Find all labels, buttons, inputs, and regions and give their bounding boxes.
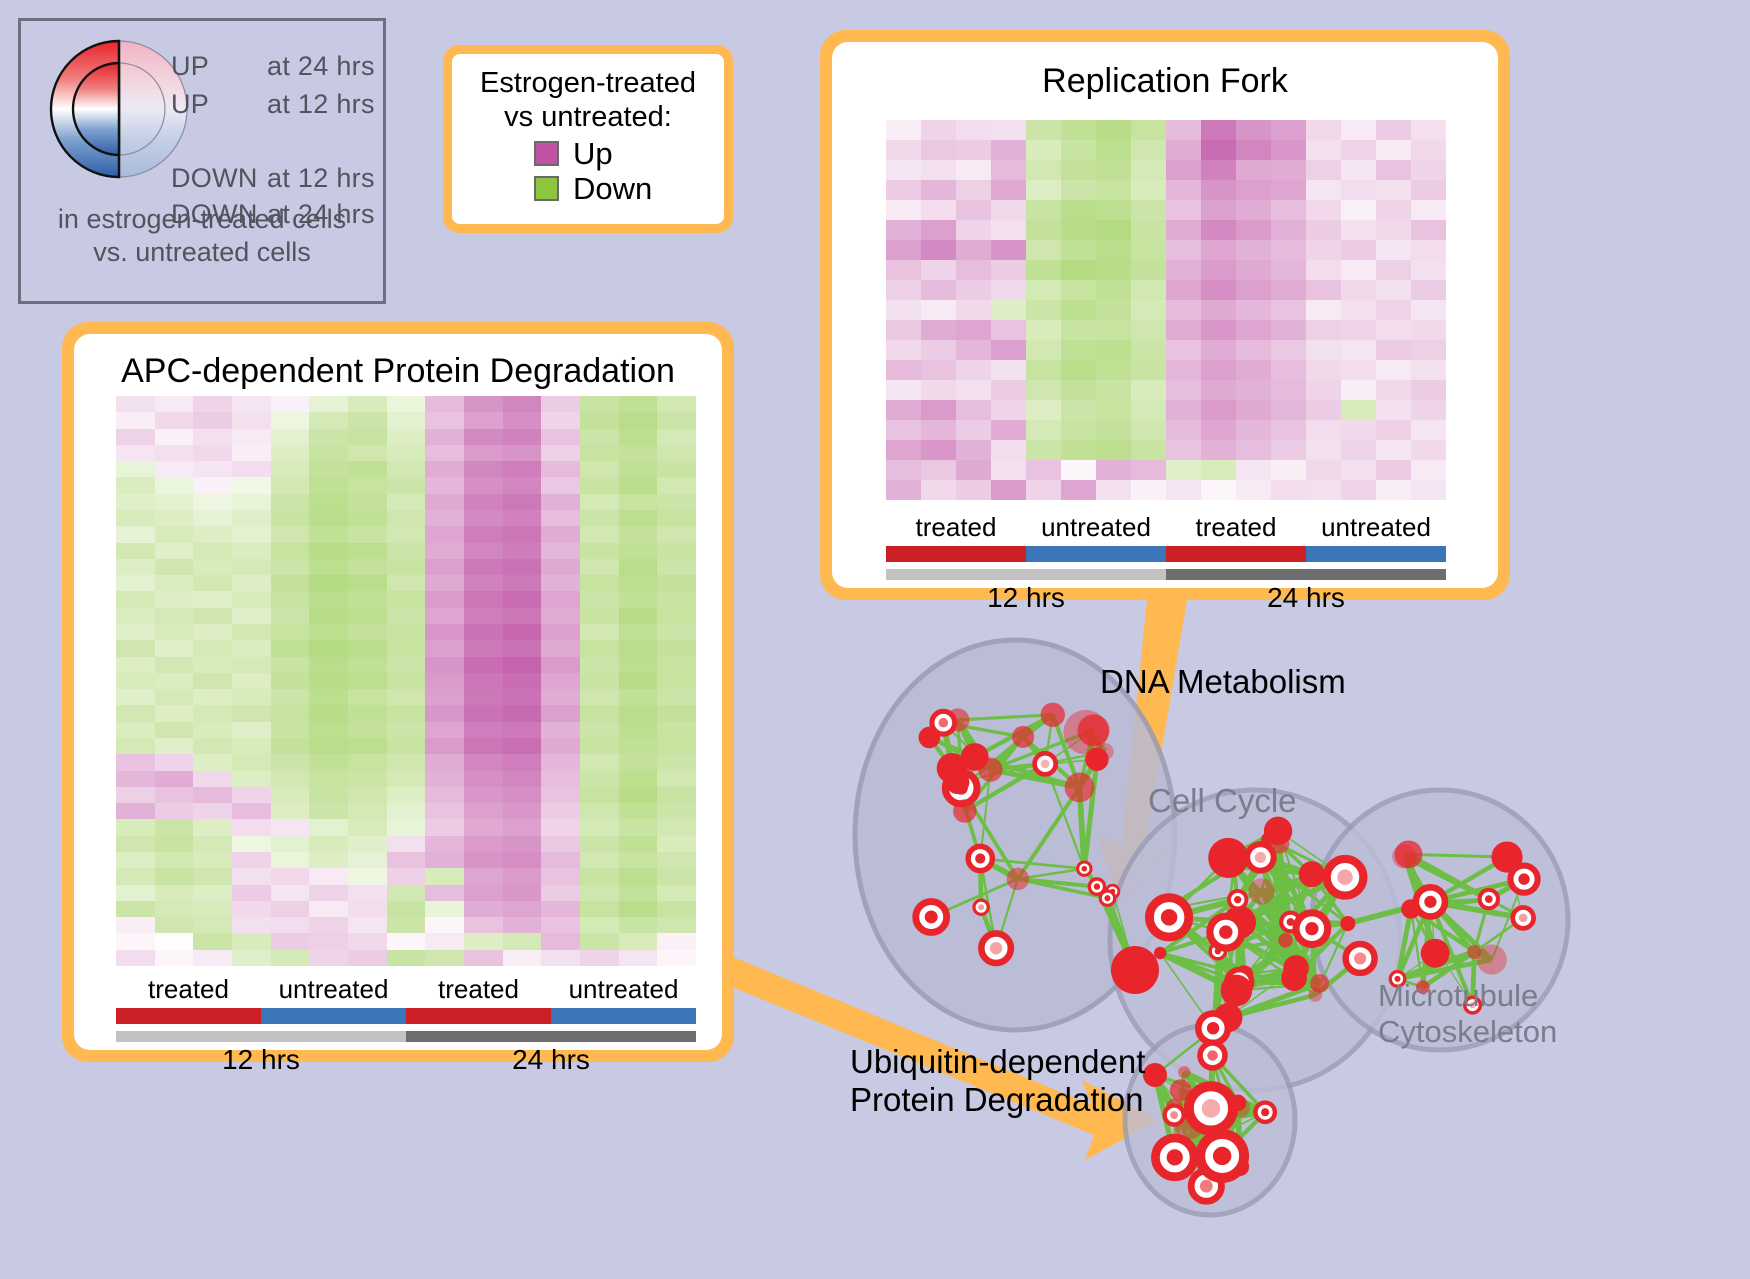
heatmap-cell bbox=[541, 640, 580, 656]
heatmap-cell bbox=[348, 771, 387, 787]
network-node[interactable] bbox=[1269, 833, 1289, 853]
group-labels: treated untreated treated untreated bbox=[886, 512, 1446, 543]
heatmap-cell bbox=[1271, 220, 1306, 240]
heatmap-cell bbox=[193, 868, 232, 884]
heatmap-cell bbox=[886, 180, 921, 200]
heatmap-cell bbox=[619, 754, 658, 770]
network-node-core bbox=[925, 910, 938, 923]
heatmap-cell bbox=[1341, 140, 1376, 160]
heatmap-cell bbox=[1166, 480, 1201, 500]
heatmap-cell bbox=[1096, 240, 1131, 260]
heatmap-cell bbox=[464, 396, 503, 412]
heatmap-cell bbox=[1376, 280, 1411, 300]
heatmap-cell bbox=[619, 722, 658, 738]
network-node[interactable] bbox=[1340, 916, 1355, 931]
heatmap-cell bbox=[387, 852, 426, 868]
heatmap-cell bbox=[387, 608, 426, 624]
network-node[interactable] bbox=[1154, 947, 1166, 959]
heatmap-cell bbox=[886, 300, 921, 320]
heatmap-cell bbox=[991, 160, 1026, 180]
network-node[interactable] bbox=[1041, 703, 1065, 727]
heatmap-cell bbox=[1306, 220, 1341, 240]
heatmap-cell bbox=[886, 340, 921, 360]
heatmap-cell bbox=[956, 420, 991, 440]
heatmap-cell bbox=[541, 901, 580, 917]
heatmap-cell bbox=[921, 320, 956, 340]
heatmap-cell bbox=[348, 494, 387, 510]
heatmap-cell bbox=[1201, 260, 1236, 280]
heatmap-cell bbox=[1411, 160, 1446, 180]
heatmap-cell bbox=[387, 575, 426, 591]
network-node[interactable] bbox=[953, 799, 976, 822]
heatmap-cell bbox=[580, 396, 619, 412]
network-node[interactable] bbox=[1170, 1079, 1192, 1101]
heatmap-cell bbox=[348, 819, 387, 835]
heatmap-cell bbox=[657, 510, 696, 526]
heatmap-cell bbox=[232, 950, 271, 966]
heatmap-cell bbox=[580, 819, 619, 835]
heatmap-cell bbox=[503, 657, 542, 673]
heatmap-cell bbox=[193, 543, 232, 559]
heatmap-cell bbox=[193, 396, 232, 412]
heatmap-cell bbox=[464, 543, 503, 559]
group-label: treated bbox=[1166, 512, 1306, 543]
heatmap-cell bbox=[155, 852, 194, 868]
panel-replication-fork: Replication Fork treated untreated treat… bbox=[820, 30, 1510, 600]
heatmap-cell bbox=[232, 738, 271, 754]
heatmap-cell bbox=[193, 836, 232, 852]
heatmap-cell bbox=[1061, 220, 1096, 240]
heatmap-cell bbox=[348, 673, 387, 689]
network-node[interactable] bbox=[1283, 955, 1309, 981]
heatmap-cell bbox=[886, 240, 921, 260]
heatmap-cell bbox=[541, 494, 580, 510]
heatmap-cell bbox=[309, 868, 348, 884]
heatmap-cell bbox=[1271, 260, 1306, 280]
heatmap-cell bbox=[541, 608, 580, 624]
heatmap-cell bbox=[580, 738, 619, 754]
heatmap-cell bbox=[387, 722, 426, 738]
heatmap-cell bbox=[193, 640, 232, 656]
heatmap-cell bbox=[387, 477, 426, 493]
heatmap-cell bbox=[1096, 360, 1131, 380]
heatmap-cell bbox=[232, 868, 271, 884]
heatmap-cell bbox=[541, 738, 580, 754]
heatmap-cell bbox=[155, 526, 194, 542]
heatmap-cell bbox=[503, 705, 542, 721]
heatmap-cell bbox=[116, 673, 155, 689]
network-node[interactable] bbox=[1221, 975, 1253, 1007]
heatmap-cell bbox=[580, 640, 619, 656]
group-label: untreated bbox=[261, 974, 406, 1005]
heatmap-cell bbox=[271, 754, 310, 770]
heatmap-cell bbox=[991, 120, 1026, 140]
heatmap-cell bbox=[1236, 360, 1271, 380]
heatmap-cell bbox=[309, 901, 348, 917]
heatmap-cell bbox=[1061, 340, 1096, 360]
heatmap-cell bbox=[541, 445, 580, 461]
heatmap-cell bbox=[580, 917, 619, 933]
heatmap-cell bbox=[155, 771, 194, 787]
heatmap-cell bbox=[657, 640, 696, 656]
network-node[interactable] bbox=[1299, 861, 1325, 887]
heatmap-cell bbox=[1411, 120, 1446, 140]
heatmap-cell bbox=[580, 885, 619, 901]
heatmap-cell bbox=[232, 787, 271, 803]
heatmap-cell bbox=[619, 689, 658, 705]
heatmap-cell bbox=[541, 705, 580, 721]
heatmap-cell bbox=[116, 819, 155, 835]
heatmap-cell bbox=[1376, 220, 1411, 240]
treatment-segment bbox=[551, 1008, 696, 1024]
heatmap-cell bbox=[956, 320, 991, 340]
heatmap-cell bbox=[1061, 440, 1096, 460]
heatmap-cell bbox=[1061, 360, 1096, 380]
heatmap-cell bbox=[921, 340, 956, 360]
heatmap-cell bbox=[580, 673, 619, 689]
heatmap-cell bbox=[1096, 460, 1131, 480]
heatmap-cell bbox=[348, 461, 387, 477]
network-node-core bbox=[939, 718, 949, 728]
heatmap-cell bbox=[1096, 300, 1131, 320]
panel-title-replication-fork: Replication Fork bbox=[832, 62, 1498, 101]
network-node[interactable] bbox=[1178, 1066, 1191, 1079]
network-node-core bbox=[1167, 1149, 1183, 1165]
heatmap-cell bbox=[348, 477, 387, 493]
heatmap-cell bbox=[1166, 440, 1201, 460]
heatmap-cell bbox=[541, 754, 580, 770]
heatmap-cell bbox=[503, 543, 542, 559]
group-labels: treated untreated treated untreated bbox=[116, 974, 696, 1005]
heatmap-cell bbox=[1306, 260, 1341, 280]
heatmap-cell bbox=[657, 689, 696, 705]
treatment-segment bbox=[886, 546, 1026, 562]
cluster-label-ubiquitin: Ubiquitin-dependent Protein Degradation bbox=[850, 1043, 1145, 1119]
heatmap-cell bbox=[1201, 440, 1236, 460]
network-node[interactable] bbox=[1208, 838, 1248, 878]
heatmap-cell bbox=[619, 917, 658, 933]
network-node-core bbox=[990, 942, 1002, 954]
heatmap-cell bbox=[464, 477, 503, 493]
heatmap-replication-fork bbox=[886, 120, 1446, 500]
heatmap-cell bbox=[348, 901, 387, 917]
heatmap-cell bbox=[1376, 180, 1411, 200]
heatmap-cell bbox=[155, 591, 194, 607]
heatmap-cell bbox=[309, 673, 348, 689]
heatmap-cell bbox=[116, 754, 155, 770]
heatmap-cell bbox=[991, 420, 1026, 440]
heatmap-cell bbox=[271, 803, 310, 819]
heatmap-cell bbox=[1166, 220, 1201, 240]
heatmap-annotation-apc: treated untreated treated untreated 12 h bbox=[116, 974, 696, 1076]
network-node[interactable] bbox=[1421, 939, 1450, 968]
heatmap-cell bbox=[1131, 140, 1166, 160]
heatmap-cell bbox=[1306, 160, 1341, 180]
treatment-segment bbox=[406, 1008, 551, 1024]
heatmap-cell bbox=[387, 591, 426, 607]
panel-inner: Replication Fork treated untreated treat… bbox=[832, 42, 1498, 588]
network-node[interactable] bbox=[937, 753, 968, 784]
heatmap-cell bbox=[1201, 420, 1236, 440]
heatmap-cell bbox=[116, 836, 155, 852]
network-node-core bbox=[1261, 1108, 1269, 1116]
heatmap-cell bbox=[193, 657, 232, 673]
heatmap-cell bbox=[1341, 420, 1376, 440]
heatmap-cell bbox=[309, 950, 348, 966]
heatmap-cell bbox=[116, 445, 155, 461]
heatmap-cell bbox=[886, 220, 921, 240]
heatmap-cell bbox=[309, 738, 348, 754]
heatmap-cell bbox=[1026, 420, 1061, 440]
network-node[interactable] bbox=[1012, 726, 1034, 748]
heatmap-cell bbox=[541, 624, 580, 640]
heatmap-cell bbox=[348, 787, 387, 803]
heatmap-cell bbox=[464, 852, 503, 868]
heatmap-cell bbox=[425, 657, 464, 673]
timepoint-label: 12 hrs bbox=[116, 1044, 406, 1076]
heatmap-cell bbox=[991, 240, 1026, 260]
network-node[interactable] bbox=[1230, 1095, 1246, 1111]
heatmap-cell bbox=[1236, 280, 1271, 300]
heatmap-cell bbox=[1061, 460, 1096, 480]
heatmap-cell bbox=[580, 624, 619, 640]
heatmap-cell bbox=[1166, 420, 1201, 440]
heatmap-cell bbox=[1166, 300, 1201, 320]
heatmap-cell bbox=[503, 689, 542, 705]
key-footer: in estrogen-treated cells vs. untreated … bbox=[21, 203, 383, 270]
treatment-segment bbox=[1166, 546, 1306, 562]
network-node[interactable] bbox=[1097, 743, 1114, 760]
heatmap-cell bbox=[193, 689, 232, 705]
heatmap-cell bbox=[657, 933, 696, 949]
heatmap-cell bbox=[1026, 360, 1061, 380]
heatmap-cell bbox=[1201, 360, 1236, 380]
heatmap-cell bbox=[1376, 420, 1411, 440]
heatmap-cell bbox=[991, 300, 1026, 320]
heatmap-cell bbox=[387, 917, 426, 933]
heatmap-cell bbox=[956, 480, 991, 500]
timepoint-label: 24 hrs bbox=[406, 1044, 696, 1076]
heatmap-cell bbox=[309, 787, 348, 803]
group-label: untreated bbox=[1306, 512, 1446, 543]
heatmap-cell bbox=[1096, 380, 1131, 400]
heatmap-cell bbox=[309, 771, 348, 787]
heatmap-cell bbox=[1131, 180, 1166, 200]
heatmap-cell bbox=[991, 440, 1026, 460]
heatmap-cell bbox=[503, 640, 542, 656]
network-node[interactable] bbox=[1248, 878, 1274, 904]
heatmap-cell bbox=[155, 412, 194, 428]
heatmap-cell bbox=[580, 754, 619, 770]
heatmap-cell bbox=[657, 738, 696, 754]
heatmap-cell bbox=[541, 868, 580, 884]
heatmap-cell bbox=[348, 445, 387, 461]
heatmap-cell bbox=[193, 803, 232, 819]
heatmap-cell bbox=[541, 722, 580, 738]
heatmap-apc-dependent-protein-degradation bbox=[116, 396, 696, 966]
heatmap-cell bbox=[271, 852, 310, 868]
heatmap-cell bbox=[348, 526, 387, 542]
heatmap-cell bbox=[116, 543, 155, 559]
heatmap-cell bbox=[271, 608, 310, 624]
heatmap-cell bbox=[991, 480, 1026, 500]
network-node-core bbox=[1354, 952, 1366, 964]
heatmap-cell bbox=[348, 705, 387, 721]
heatmap-cell bbox=[387, 803, 426, 819]
network-node[interactable] bbox=[1395, 840, 1423, 868]
cluster-label-dna-metabolism: DNA Metabolism bbox=[1100, 663, 1346, 701]
heatmap-cell bbox=[1236, 220, 1271, 240]
heatmap-cell bbox=[956, 300, 991, 320]
heatmap-cell bbox=[193, 510, 232, 526]
network-node[interactable] bbox=[978, 757, 1002, 781]
heatmap-cell bbox=[116, 689, 155, 705]
heatmap-cell bbox=[1166, 200, 1201, 220]
heatmap-cell bbox=[657, 657, 696, 673]
heatmap-cell bbox=[1131, 280, 1166, 300]
heatmap-cell bbox=[1061, 400, 1096, 420]
heatmap-cell bbox=[503, 526, 542, 542]
heatmap-cell bbox=[886, 280, 921, 300]
heatmap-cell bbox=[1271, 280, 1306, 300]
network-node-core bbox=[1519, 914, 1528, 923]
heatmap-cell bbox=[1201, 220, 1236, 240]
heatmap-cell bbox=[1341, 220, 1376, 240]
heatmap-cell bbox=[387, 673, 426, 689]
heatmap-cell bbox=[425, 396, 464, 412]
heatmap-cell bbox=[1096, 280, 1131, 300]
heatmap-cell bbox=[956, 440, 991, 460]
heatmap-cell bbox=[1236, 200, 1271, 220]
network-node[interactable] bbox=[1308, 988, 1322, 1002]
heatmap-cell bbox=[1341, 360, 1376, 380]
heatmap-cell bbox=[116, 917, 155, 933]
heatmap-cell bbox=[464, 885, 503, 901]
heatmap-cell bbox=[155, 559, 194, 575]
heatmap-cell bbox=[1096, 200, 1131, 220]
heatmap-cell bbox=[657, 868, 696, 884]
heatmap-cell bbox=[387, 836, 426, 852]
heatmap-cell bbox=[425, 559, 464, 575]
heatmap-cell bbox=[271, 738, 310, 754]
heatmap-cell bbox=[503, 429, 542, 445]
heatmap-cell bbox=[1411, 400, 1446, 420]
heatmap-cell bbox=[309, 429, 348, 445]
heatmap-cell bbox=[1376, 340, 1411, 360]
legend-item-up: Up bbox=[534, 138, 710, 169]
heatmap-cell bbox=[1131, 260, 1166, 280]
key-footer-line1: in estrogen-treated cells bbox=[21, 203, 383, 236]
heatmap-cell bbox=[619, 950, 658, 966]
heatmap-cell bbox=[425, 412, 464, 428]
heatmap-cell bbox=[425, 901, 464, 917]
heatmap-cell bbox=[1096, 480, 1131, 500]
heatmap-cell bbox=[232, 705, 271, 721]
network-node-core bbox=[1202, 1099, 1221, 1118]
heatmap-cell bbox=[232, 591, 271, 607]
heatmap-cell bbox=[425, 608, 464, 624]
heatmap-cell bbox=[116, 787, 155, 803]
heatmap-cell bbox=[309, 885, 348, 901]
heatmap-cell bbox=[657, 477, 696, 493]
heatmap-cell bbox=[1376, 300, 1411, 320]
heatmap-cell bbox=[464, 461, 503, 477]
heatmap-cell bbox=[580, 429, 619, 445]
heatmap-cell bbox=[657, 803, 696, 819]
key-row: DOWN at 12 hrs bbox=[171, 163, 386, 199]
heatmap-cell bbox=[309, 526, 348, 542]
heatmap-cell bbox=[116, 396, 155, 412]
heatmap-cell bbox=[232, 819, 271, 835]
heatmap-cell bbox=[580, 526, 619, 542]
heatmap-cell bbox=[921, 480, 956, 500]
heatmap-cell bbox=[657, 575, 696, 591]
heatmap-cell bbox=[1026, 200, 1061, 220]
heatmap-cell bbox=[116, 771, 155, 787]
legend-title-line1: Estrogen-treated bbox=[466, 66, 710, 100]
heatmap-cell bbox=[1026, 260, 1061, 280]
heatmap-cell bbox=[271, 494, 310, 510]
heatmap-cell bbox=[991, 140, 1026, 160]
heatmap-cell bbox=[1236, 260, 1271, 280]
heatmap-cell bbox=[503, 412, 542, 428]
heatmap-cell bbox=[541, 477, 580, 493]
heatmap-cell bbox=[464, 738, 503, 754]
heatmap-cell bbox=[1271, 480, 1306, 500]
network-node-core bbox=[1337, 870, 1352, 885]
heatmap-cell bbox=[464, 868, 503, 884]
heatmap-cell bbox=[271, 429, 310, 445]
heatmap-cell bbox=[619, 526, 658, 542]
heatmap-cell bbox=[619, 771, 658, 787]
heatmap-cell bbox=[1236, 440, 1271, 460]
heatmap-cell bbox=[387, 640, 426, 656]
heatmap-cell bbox=[1131, 220, 1166, 240]
heatmap-cell bbox=[991, 400, 1026, 420]
heatmap-cell bbox=[387, 787, 426, 803]
heatmap-cell bbox=[116, 510, 155, 526]
network-node[interactable] bbox=[1143, 1063, 1167, 1087]
heatmap-cell bbox=[193, 461, 232, 477]
heatmap-cell bbox=[1341, 340, 1376, 360]
heatmap-cell bbox=[580, 657, 619, 673]
network-node-core bbox=[1255, 852, 1266, 863]
updown-legend-box: Estrogen-treated vs untreated: Up Down bbox=[443, 45, 733, 233]
network-node[interactable] bbox=[1007, 868, 1030, 891]
heatmap-cell bbox=[657, 429, 696, 445]
network-node[interactable] bbox=[1065, 773, 1095, 803]
network-node[interactable] bbox=[1278, 933, 1292, 947]
heatmap-cell bbox=[232, 640, 271, 656]
heatmap-cell bbox=[271, 477, 310, 493]
heatmap-cell bbox=[1096, 400, 1131, 420]
heatmap-cell bbox=[956, 460, 991, 480]
heatmap-cell bbox=[232, 608, 271, 624]
heatmap-cell bbox=[271, 510, 310, 526]
heatmap-cell bbox=[619, 657, 658, 673]
heatmap-cell bbox=[503, 494, 542, 510]
heatmap-cell bbox=[387, 868, 426, 884]
network-node[interactable] bbox=[1477, 945, 1507, 975]
heatmap-cell bbox=[1131, 360, 1166, 380]
heatmap-cell bbox=[232, 575, 271, 591]
heatmap-cell bbox=[1306, 120, 1341, 140]
heatmap-cell bbox=[1061, 140, 1096, 160]
network-node[interactable] bbox=[1111, 946, 1159, 994]
heatmap-cell bbox=[193, 526, 232, 542]
heatmap-cell bbox=[619, 461, 658, 477]
heatmap-cell bbox=[1236, 460, 1271, 480]
